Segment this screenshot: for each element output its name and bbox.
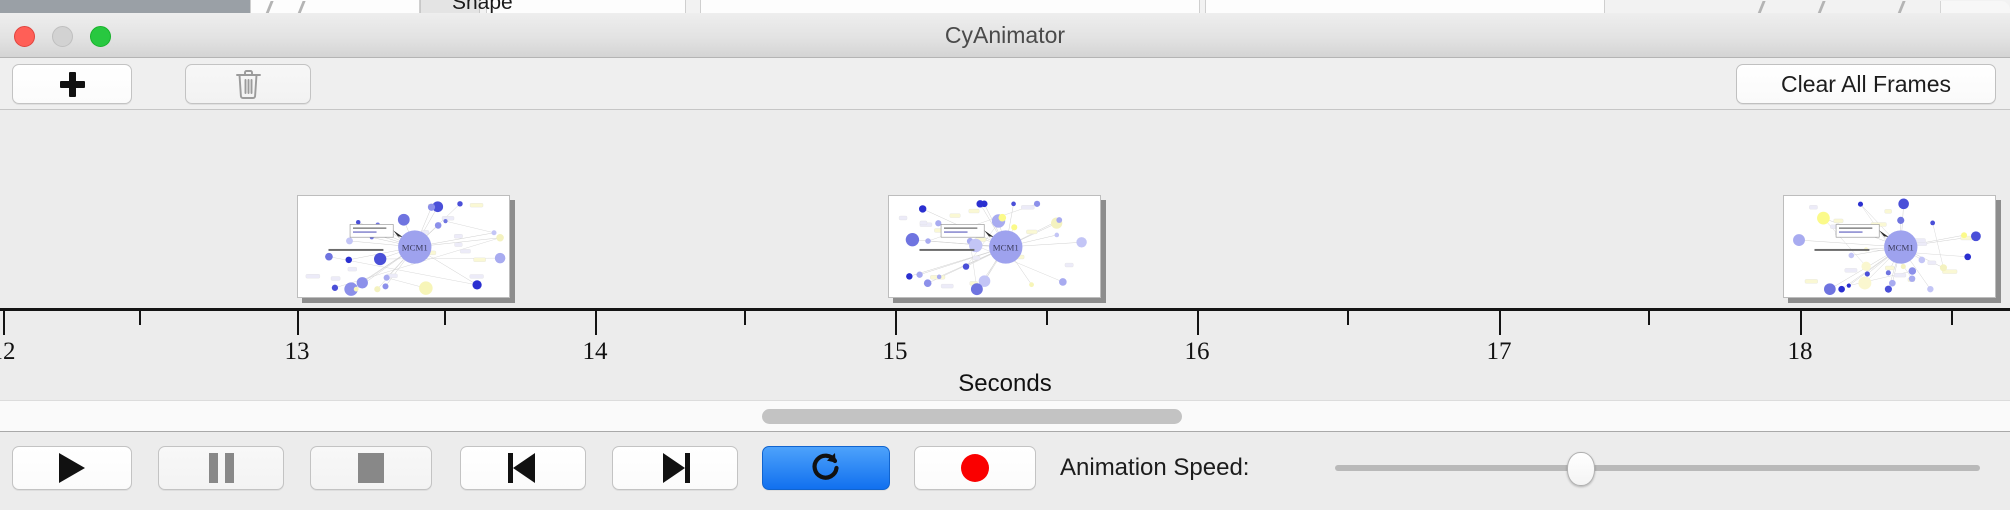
background-window-chunk — [250, 0, 420, 14]
play-icon — [59, 453, 85, 483]
axis-tick-minor — [139, 311, 141, 325]
network-thumbnail-graphic: MCM1 — [889, 196, 1100, 297]
pause-button[interactable] — [158, 446, 284, 490]
timeline-frame[interactable]: MCM1 — [297, 195, 515, 303]
network-thumbnail-graphic: MCM1 — [1784, 196, 1995, 297]
prev-frame-button[interactable] — [460, 446, 586, 490]
svg-text:MCM1: MCM1 — [1888, 242, 1914, 252]
axis-tick-major — [1197, 311, 1199, 335]
axis-tick-major — [1499, 311, 1501, 335]
play-button[interactable] — [12, 446, 132, 490]
cyanimator-window: Shape CyAnimator Clear All Frames MCM1MC… — [0, 0, 2010, 510]
timeline-scrollbar[interactable] — [0, 400, 2010, 432]
loop-icon — [809, 449, 843, 488]
background-window-chunk — [700, 0, 1200, 14]
delete-frame-button[interactable] — [185, 64, 311, 104]
timeline-frame[interactable]: MCM1 — [888, 195, 1106, 303]
frame-thumbnail[interactable]: MCM1 — [1783, 195, 1996, 298]
record-icon — [961, 454, 989, 482]
axis-tick-minor — [744, 311, 746, 325]
loop-button[interactable] — [762, 446, 890, 490]
title-bar: CyAnimator — [0, 13, 2010, 58]
axis-tick-major — [297, 311, 299, 335]
axis-tick-major — [1800, 311, 1802, 335]
axis-tick-minor — [1648, 311, 1650, 325]
slider-thumb[interactable] — [1567, 452, 1595, 486]
frame-thumbnail[interactable]: MCM1 — [888, 195, 1101, 298]
axis-tick-label: 15 — [883, 338, 908, 366]
scrollbar-thumb[interactable] — [762, 409, 1182, 424]
background-label: Shape — [452, 0, 513, 14]
stop-button[interactable] — [310, 446, 432, 490]
trash-icon — [235, 69, 262, 100]
axis-tick-label: 12 — [0, 338, 16, 366]
window-title: CyAnimator — [0, 13, 2010, 58]
axis-tick-label: 18 — [1788, 338, 1813, 366]
clear-all-frames-button[interactable]: Clear All Frames — [1736, 64, 1996, 104]
background-window-chunk — [1205, 0, 1605, 14]
pause-icon — [209, 453, 234, 483]
playback-controls: Animation Speed: — [0, 432, 2010, 510]
axis-tick-label: 16 — [1185, 338, 1210, 366]
background-window-chunk — [486, 0, 686, 14]
timeline-axis — [0, 308, 2010, 311]
skip-forward-icon — [660, 453, 690, 483]
network-thumbnail-graphic: MCM1 — [298, 196, 509, 297]
axis-tick-major — [595, 311, 597, 335]
animation-speed-slider[interactable] — [1335, 446, 1980, 490]
axis-tick-major — [895, 311, 897, 335]
axis-tick-major — [3, 311, 5, 335]
record-button[interactable] — [914, 446, 1036, 490]
timeline-panel[interactable]: MCM1MCM1MCM1 12131415161718 Seconds — [0, 110, 2010, 400]
axis-title: Seconds — [0, 370, 2010, 398]
plus-icon — [59, 71, 85, 97]
axis-tick-minor — [1046, 311, 1048, 325]
animation-speed-label: Animation Speed: — [1060, 446, 1249, 490]
axis-tick-minor — [1951, 311, 1953, 325]
skip-back-icon — [508, 453, 538, 483]
axis-tick-label: 13 — [285, 338, 310, 366]
frame-thumbnail[interactable]: MCM1 — [297, 195, 510, 298]
svg-text:MCM1: MCM1 — [402, 242, 428, 252]
background-dark-bar — [0, 0, 250, 13]
svg-text:MCM1: MCM1 — [993, 242, 1019, 252]
add-frame-button[interactable] — [12, 64, 132, 104]
axis-tick-label: 17 — [1487, 338, 1512, 366]
axis-tick-minor — [1347, 311, 1349, 325]
axis-tick-label: 14 — [583, 338, 608, 366]
next-frame-button[interactable] — [612, 446, 738, 490]
toolbar: Clear All Frames — [0, 58, 2010, 110]
stop-icon — [358, 453, 384, 483]
timeline-frame[interactable]: MCM1 — [1783, 195, 2001, 303]
background-windows: Shape — [0, 0, 2010, 14]
slider-track — [1335, 465, 1980, 471]
axis-tick-minor — [444, 311, 446, 325]
